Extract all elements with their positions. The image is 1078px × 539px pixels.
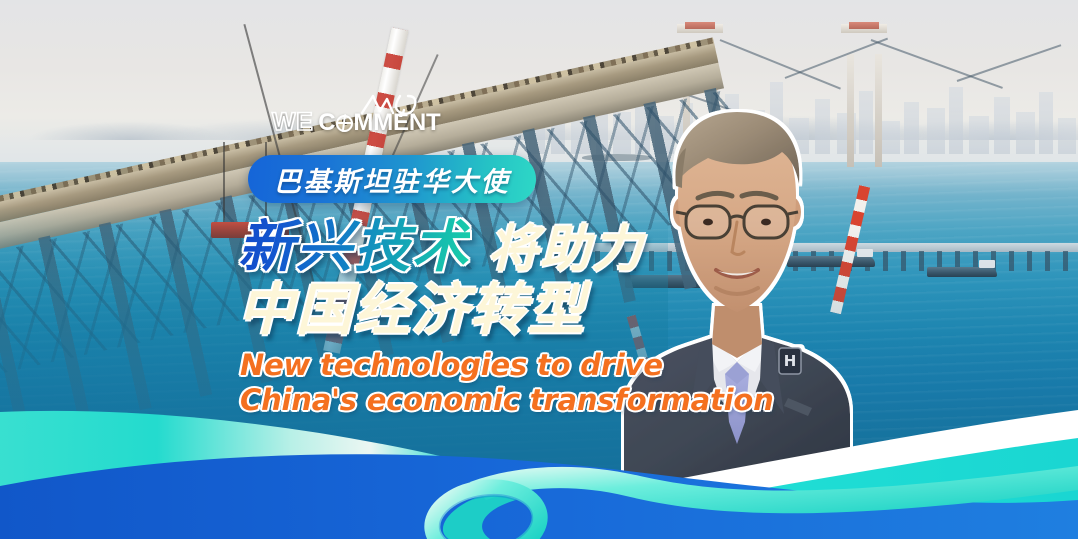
globe-icon [336,115,353,132]
headline-line2-text: 中国经济转型 [238,281,586,340]
subtitle-line-2: China's economic transformation [240,383,774,418]
svg-text:H: H [784,352,797,370]
headline-line-1: 新兴技术 将助力 [238,218,644,277]
wave-footer [0,404,1078,539]
role-badge-label: 巴基斯坦驻华大使 [274,160,510,199]
poster-root: H WE C MMENT 巴基斯坦驻华大使 新兴技术 将助力 [0,0,1078,539]
subtitle-line-1: New technologies to drive [240,348,774,383]
role-badge: 巴基斯坦驻华大使 [248,155,536,203]
headline-highlight: 新兴技术 [238,218,470,277]
headline-line-2: 中国经济转型 [238,281,644,340]
logo-comment-text: C MMENT [318,111,440,135]
headline-chinese: 新兴技术 将助力 中国经济转型 [238,218,644,341]
crawler-crane [323,22,324,23]
logo-comment-prefix: C [318,111,335,135]
logo-we-text: WE [272,110,313,135]
logo-comment-suffix: MMENT [353,111,440,135]
subtitle-english: New technologies to drive China's econom… [240,348,774,419]
brand-logo: WE C MMENT [272,110,440,135]
cargo-ship [927,267,997,277]
headline-line1-rest: 将助力 [488,223,644,276]
